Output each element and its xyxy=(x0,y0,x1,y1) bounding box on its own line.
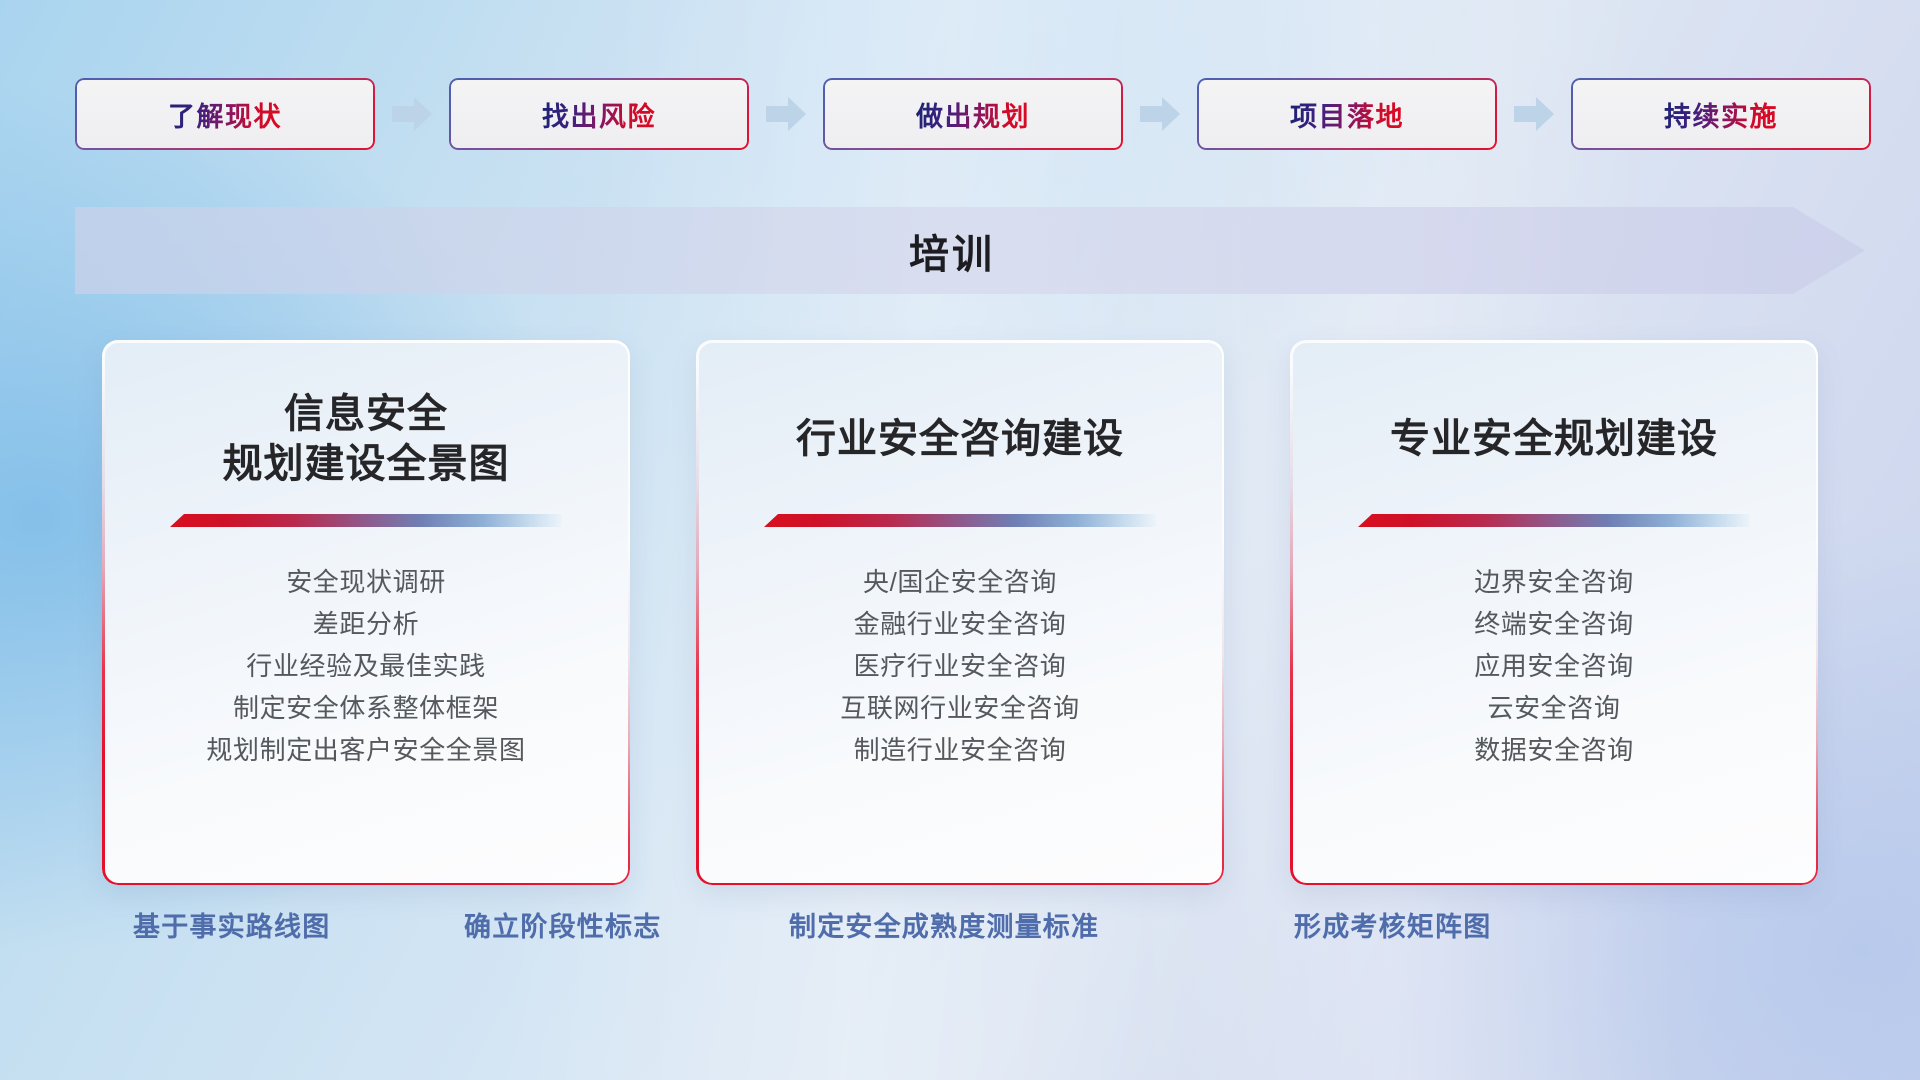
outcome-caption-4: 形成考核矩阵图 xyxy=(1294,905,1491,944)
list-item: 安全现状调研 xyxy=(286,561,446,603)
bottom-captions-row: 基于事实路线图确立阶段性标志制定安全成熟度测量标准形成考核矩阵图 xyxy=(0,905,1920,961)
service-card-title: 专业安全规划建设 xyxy=(1390,386,1718,492)
list-item: 行业经验及最佳实践 xyxy=(246,645,485,687)
banner-title: 培训 xyxy=(75,207,1865,294)
list-item: 云安全咨询 xyxy=(1487,687,1620,729)
list-item: 终端安全咨询 xyxy=(1474,603,1634,645)
list-item: 规划制定出客户安全全景图 xyxy=(206,729,525,771)
service-card-list: 边界安全咨询终端安全咨询应用安全咨询云安全咨询数据安全咨询 xyxy=(1320,561,1788,772)
process-step-label: 持续实施 xyxy=(1664,95,1778,134)
arrow-right-icon xyxy=(749,92,823,136)
process-step-3[interactable]: 做出规划 xyxy=(823,78,1123,150)
service-card-body: 信息安全规划建设全景图安全现状调研差距分析行业经验及最佳实践制定安全体系整体框架… xyxy=(102,340,630,885)
arrow-right-icon xyxy=(1497,92,1571,136)
list-item: 边界安全咨询 xyxy=(1474,561,1634,603)
process-step-label: 了解现状 xyxy=(168,95,282,134)
service-card-1[interactable]: 信息安全规划建设全景图安全现状调研差距分析行业经验及最佳实践制定安全体系整体框架… xyxy=(102,340,630,885)
process-step-label: 做出规划 xyxy=(916,95,1030,134)
service-card-3[interactable]: 专业安全规划建设边界安全咨询终端安全咨询应用安全咨询云安全咨询数据安全咨询 xyxy=(1290,340,1818,885)
service-card-title-line: 信息安全 xyxy=(223,389,510,439)
list-item: 医疗行业安全咨询 xyxy=(854,645,1067,687)
service-card-title-line: 行业安全咨询建设 xyxy=(796,414,1124,464)
process-step-5[interactable]: 持续实施 xyxy=(1571,78,1871,150)
service-card-title: 信息安全规划建设全景图 xyxy=(223,386,510,492)
outcome-caption-2: 确立阶段性标志 xyxy=(464,905,661,944)
outcome-caption-3: 制定安全成熟度测量标准 xyxy=(789,905,1099,944)
service-card-divider xyxy=(1358,514,1750,527)
list-item: 央/国企安全咨询 xyxy=(863,561,1057,603)
process-step-row: 了解现状找出风险做出规划项目落地持续实施 xyxy=(75,78,1865,150)
process-step-2[interactable]: 找出风险 xyxy=(449,78,749,150)
list-item: 差距分析 xyxy=(313,603,419,645)
training-banner: 培训 xyxy=(75,207,1865,294)
service-card-2[interactable]: 行业安全咨询建设央/国企安全咨询金融行业安全咨询医疗行业安全咨询互联网行业安全咨… xyxy=(696,340,1224,885)
slide-stage: 了解现状找出风险做出规划项目落地持续实施 培训 信息安全规划建设全景图安全现状调… xyxy=(0,0,1920,1080)
process-step-label: 找出风险 xyxy=(542,95,656,134)
process-step-label: 项目落地 xyxy=(1290,95,1404,134)
list-item: 数据安全咨询 xyxy=(1474,729,1634,771)
outcome-caption-1: 基于事实路线图 xyxy=(133,905,330,944)
list-item: 制造行业安全咨询 xyxy=(854,729,1067,771)
process-step-4[interactable]: 项目落地 xyxy=(1197,78,1497,150)
process-step-1[interactable]: 了解现状 xyxy=(75,78,375,150)
service-card-body: 专业安全规划建设边界安全咨询终端安全咨询应用安全咨询云安全咨询数据安全咨询 xyxy=(1290,340,1818,885)
list-item: 互联网行业安全咨询 xyxy=(840,687,1079,729)
list-item: 制定安全体系整体框架 xyxy=(233,687,499,729)
service-card-title-line: 专业安全规划建设 xyxy=(1390,414,1718,464)
service-card-divider xyxy=(764,514,1156,527)
service-cards-row: 信息安全规划建设全景图安全现状调研差距分析行业经验及最佳实践制定安全体系整体框架… xyxy=(0,340,1920,885)
list-item: 应用安全咨询 xyxy=(1474,645,1634,687)
service-card-divider xyxy=(170,514,562,527)
service-card-title-line: 规划建设全景图 xyxy=(223,439,510,489)
list-item: 金融行业安全咨询 xyxy=(854,603,1067,645)
service-card-list: 安全现状调研差距分析行业经验及最佳实践制定安全体系整体框架规划制定出客户安全全景… xyxy=(132,561,600,772)
service-card-list: 央/国企安全咨询金融行业安全咨询医疗行业安全咨询互联网行业安全咨询制造行业安全咨… xyxy=(726,561,1194,772)
service-card-body: 行业安全咨询建设央/国企安全咨询金融行业安全咨询医疗行业安全咨询互联网行业安全咨… xyxy=(696,340,1224,885)
service-card-title: 行业安全咨询建设 xyxy=(796,386,1124,492)
arrow-right-icon xyxy=(375,92,449,136)
arrow-right-icon xyxy=(1123,92,1197,136)
